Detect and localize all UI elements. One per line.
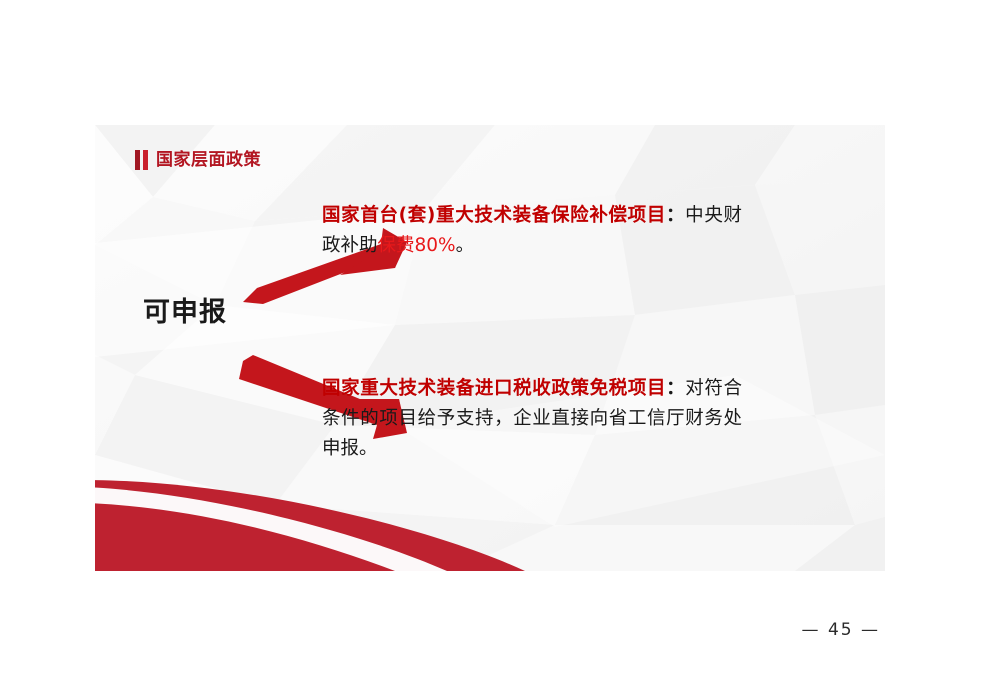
bullet-1-highlight: 保费80% bbox=[378, 235, 456, 256]
bullet-1-heading: 国家首台(套)重大技术装备保险补偿项目 bbox=[322, 205, 666, 226]
bullet-1-body-after: 。 bbox=[456, 235, 475, 256]
slide-background-graphic bbox=[95, 125, 885, 571]
slide: 国家层面政策 可申报 国家首台(套)重大技术装备保险补偿项目：中央财政补助保费8… bbox=[95, 125, 885, 571]
page-number: — 45 — bbox=[0, 620, 880, 640]
bullet-2-heading: 国家重大技术装备进口税收政策免税项目 bbox=[322, 378, 666, 399]
bullet-paragraph-1: 国家首台(套)重大技术装备保险补偿项目：中央财政补助保费80%。 bbox=[322, 201, 742, 261]
section-title-text: 国家层面政策 bbox=[156, 150, 261, 170]
bullet-1-colon: ： bbox=[666, 205, 685, 226]
title-bar-right-icon bbox=[143, 150, 148, 170]
bullet-paragraph-2: 国家重大技术装备进口税收政策免税项目：对符合条件的项目给予支持，企业直接向省工信… bbox=[322, 374, 742, 464]
bullet-2-colon: ： bbox=[666, 378, 685, 399]
section-title: 国家层面政策 bbox=[135, 147, 261, 173]
title-bar-left-icon bbox=[135, 150, 140, 170]
page-canvas: 国家层面政策 可申报 国家首台(套)重大技术装备保险补偿项目：中央财政补助保费8… bbox=[0, 0, 982, 695]
left-label: 可申报 bbox=[143, 290, 227, 329]
